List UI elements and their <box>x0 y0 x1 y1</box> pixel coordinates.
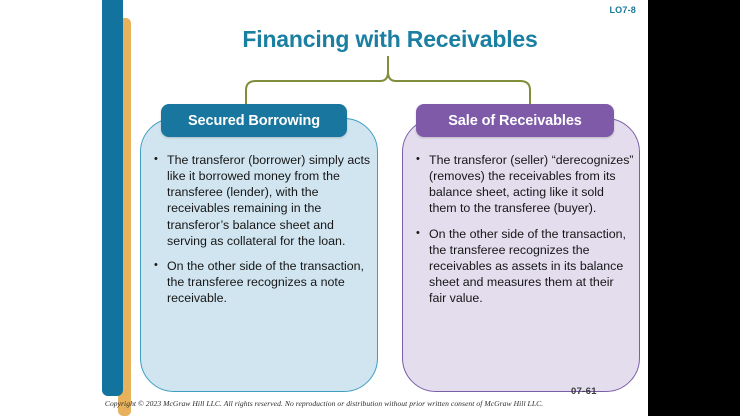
learning-objective-tag: LO7-8 <box>609 5 636 15</box>
decorative-teal-bar <box>102 0 123 396</box>
list-item: • On the other side of the transaction, … <box>154 258 372 306</box>
list-item-text: On the other side of the transaction, th… <box>167 258 372 306</box>
list-item-text: The transferor (seller) “derecognizes” (… <box>429 152 634 217</box>
list-item-text: On the other side of the transaction, th… <box>429 226 634 307</box>
list-item: • On the other side of the transaction, … <box>416 226 634 307</box>
slide-viewer: LO7-8 Financing with Receivables Secured… <box>0 0 740 416</box>
bullet-marker-icon: • <box>416 226 429 307</box>
list-item: • The transferor (borrower) simply acts … <box>154 152 372 249</box>
bullet-marker-icon: • <box>416 152 429 217</box>
comparison-columns: Secured Borrowing • The transferor (borr… <box>140 104 640 392</box>
list-item: • The transferor (seller) “derecognizes”… <box>416 152 634 217</box>
column-secured-borrowing: Secured Borrowing • The transferor (borr… <box>140 104 378 392</box>
heading-sale-of-receivables: Sale of Receivables <box>416 104 614 137</box>
list-item-text: The transferor (borrower) simply acts li… <box>167 152 372 249</box>
bullet-marker-icon: • <box>154 152 167 249</box>
copyright-notice: Copyright © 2023 McGraw Hill LLC. All ri… <box>0 399 648 408</box>
page-title: Financing with Receivables <box>140 26 640 53</box>
bullet-marker-icon: • <box>154 258 167 306</box>
slide-canvas: LO7-8 Financing with Receivables Secured… <box>0 0 648 416</box>
bullet-list-sale-of-receivables: • The transferor (seller) “derecognizes”… <box>416 152 634 315</box>
bullet-list-secured-borrowing: • The transferor (borrower) simply acts … <box>154 152 372 315</box>
page-number: 07-61 <box>571 386 597 397</box>
column-sale-of-receivables: Sale of Receivables • The transferor (se… <box>402 104 640 392</box>
heading-secured-borrowing: Secured Borrowing <box>161 104 347 137</box>
